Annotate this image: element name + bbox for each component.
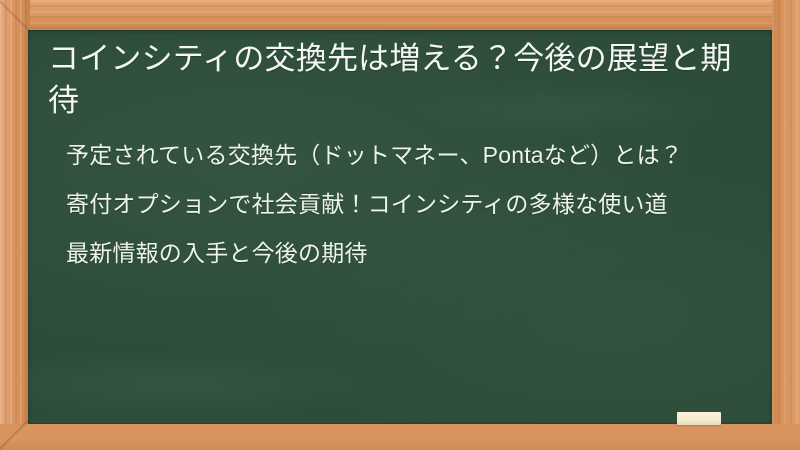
toc-item-1[interactable]: 予定されている交換先（ドットマネー、Pontaなど）とは？: [66, 140, 730, 172]
board-content: コインシティの交換先は増える？今後の展望と期待 予定されている交換先（ドットマネ…: [28, 30, 772, 270]
frame-top-bar: [0, 0, 800, 30]
frame-right-bar: [772, 0, 800, 450]
chalk-stick-icon: [677, 412, 721, 425]
toc-item-2[interactable]: 寄付オプションで社会貢献！コインシティの多様な使い道: [66, 189, 730, 221]
table-of-contents: 予定されている交換先（ドットマネー、Pontaなど）とは？ 寄付オプションで社会…: [38, 140, 756, 269]
toc-item-3[interactable]: 最新情報の入手と今後の期待: [66, 238, 730, 270]
page-title: コインシティの交換先は増える？今後の展望と期待: [38, 38, 756, 122]
frame-bottom-ledge: [0, 424, 800, 450]
eyecatch-canvas: コインシティの交換先は増える？今後の展望と期待 予定されている交換先（ドットマネ…: [0, 0, 800, 450]
chalkboard: コインシティの交換先は増える？今後の展望と期待 予定されている交換先（ドットマネ…: [28, 30, 772, 424]
frame-left-bar: [0, 0, 30, 450]
